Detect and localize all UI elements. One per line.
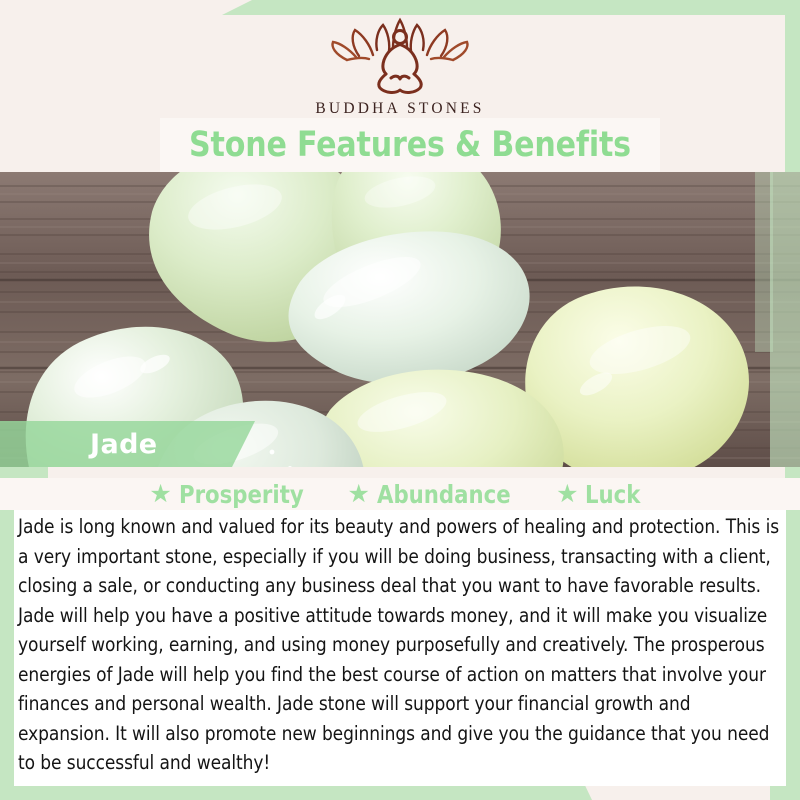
benefit-label: Prosperity bbox=[179, 480, 304, 509]
star-icon: ★ bbox=[556, 482, 578, 507]
benefit-item: ★ Luck bbox=[556, 480, 651, 509]
infographic-page: BUDDHA STONES Stone Features & Benefits bbox=[0, 0, 800, 800]
stone-name-label: Jade bbox=[90, 429, 158, 460]
lotus-meditation-icon bbox=[325, 16, 475, 94]
title-banner: Stone Features & Benefits bbox=[160, 118, 660, 172]
star-icon: ★ bbox=[149, 482, 171, 507]
brand-name: BUDDHA STONES bbox=[315, 100, 484, 118]
benefit-label: Luck bbox=[585, 480, 640, 509]
stone-name-banner: Jade bbox=[0, 421, 255, 467]
brand-logo: BUDDHA STONES bbox=[0, 16, 800, 118]
description-text: Jade is long known and valued for its be… bbox=[18, 512, 781, 778]
benefit-item: ★ Abundance bbox=[347, 480, 534, 509]
header: BUDDHA STONES Stone Features & Benefits bbox=[0, 0, 800, 172]
star-icon: ★ bbox=[347, 482, 369, 507]
benefit-item: ★ Prosperity bbox=[149, 480, 325, 509]
description-block: Jade is long known and valued for its be… bbox=[14, 510, 786, 786]
page-title: Stone Features & Benefits bbox=[189, 125, 631, 165]
benefit-label: Abundance bbox=[377, 480, 511, 509]
benefits-row: ★ Prosperity ★ Abundance ★ Luck bbox=[0, 478, 800, 510]
